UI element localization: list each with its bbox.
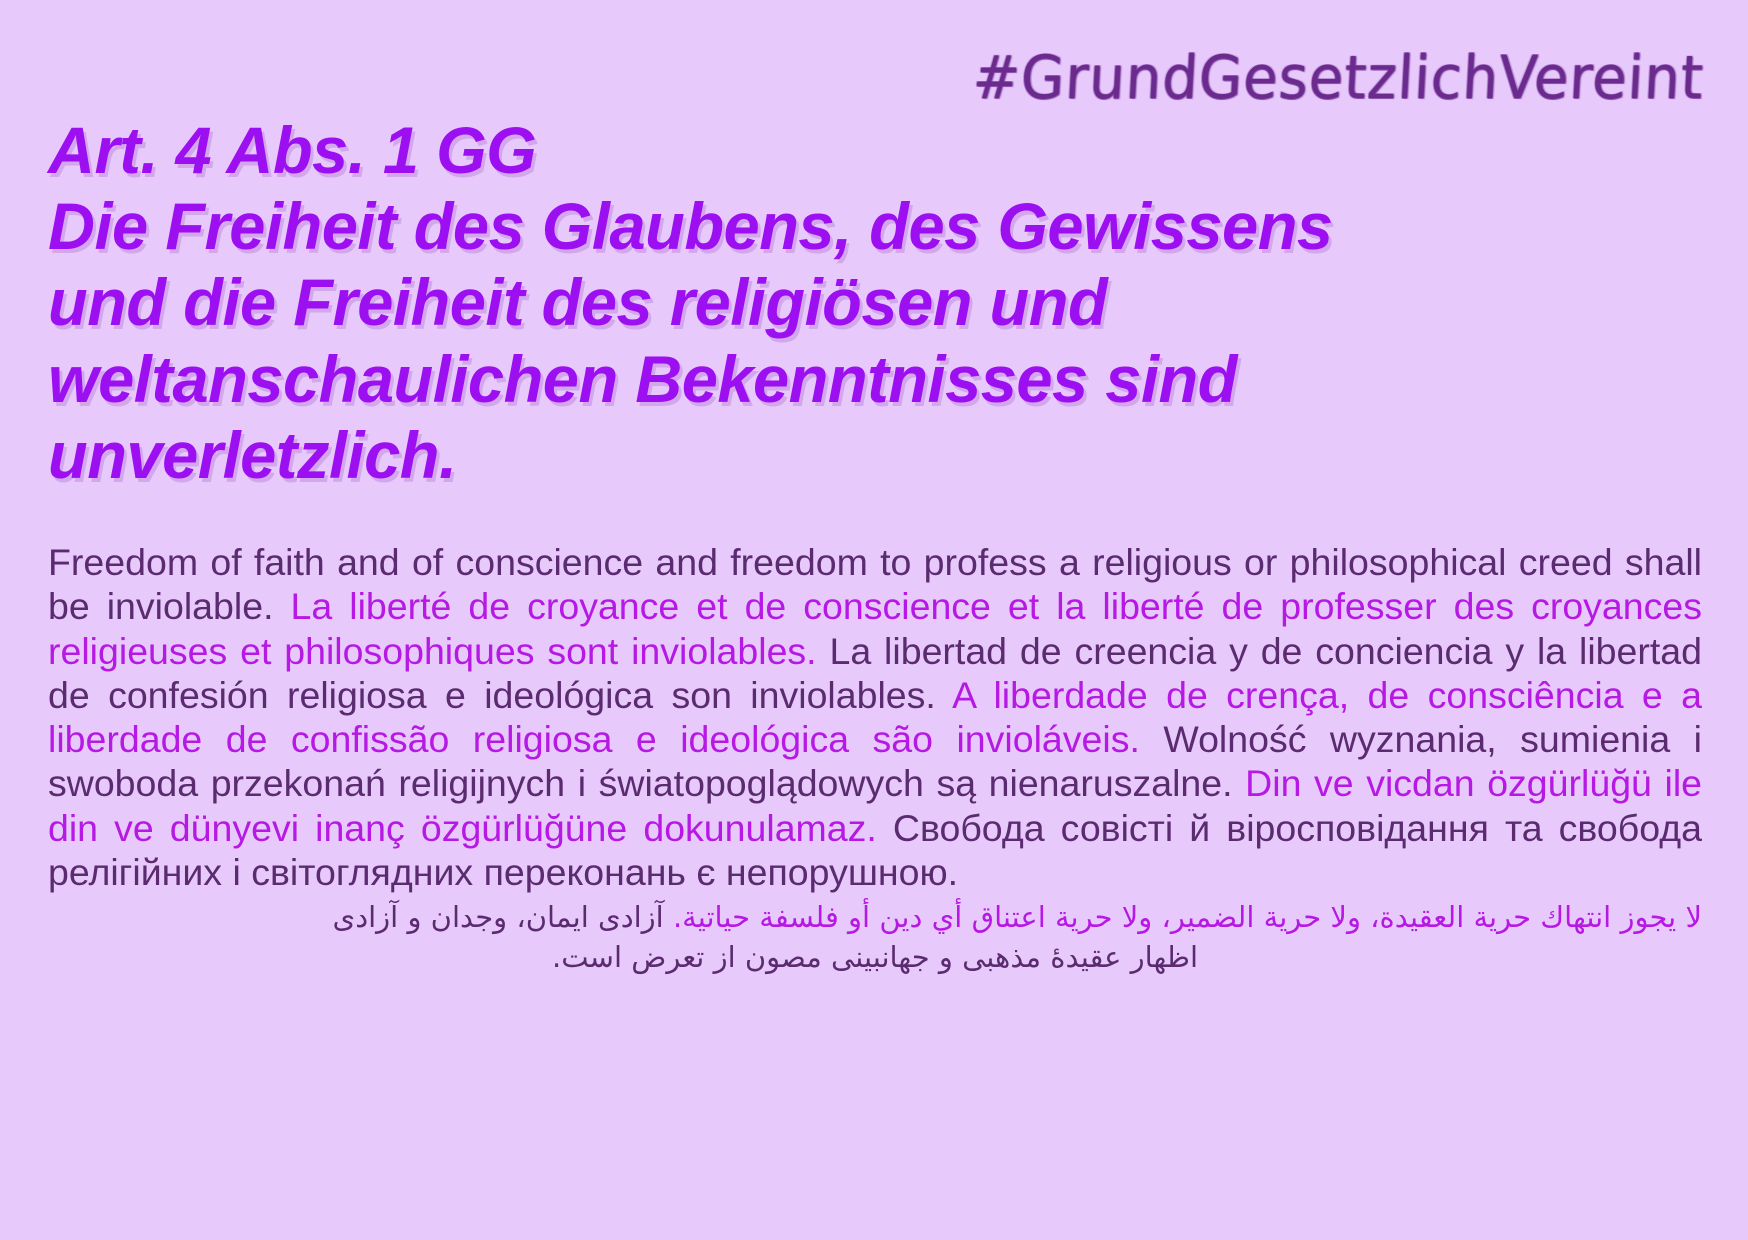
headline-article-reference: Art. 4 Abs. 1 GG	[48, 112, 1585, 188]
translation-arabic: لا يجوز انتهاك حرية العقيدة، ولا حرية ال…	[673, 900, 1702, 934]
headline-line-3: weltanschaulichen Bekenntnisses sind	[48, 341, 1585, 417]
translation-persian-part-2: اظهار عقيدهٔ مذهبى و جهانبينى مصون از تع…	[48, 938, 1702, 976]
translation-persian-part-1: آزادى ايمان، وجدان و آزادى	[333, 900, 664, 934]
translation-arabic-line: لا يجوز انتهاك حرية العقيدة، ولا حرية ال…	[48, 898, 1702, 936]
headline-line-2: und die Freiheit des religiösen und	[48, 264, 1585, 340]
page-title: Art. 4 Abs. 1 GG Die Freiheit des Glaube…	[48, 112, 1585, 493]
poster-canvas: #GrundGesetzlichVereint Art. 4 Abs. 1 GG…	[0, 0, 1748, 1240]
translations-block: Freedom of faith and of conscience and f…	[48, 540, 1702, 977]
headline-line-4: unverletzlich.	[48, 417, 1585, 493]
headline-line-1: Die Freiheit des Glaubens, des Gewissens	[48, 188, 1585, 264]
hashtag-campaign: #GrundGesetzlichVereint	[971, 44, 1705, 113]
translations-paragraph: Freedom of faith and of conscience and f…	[48, 540, 1702, 894]
